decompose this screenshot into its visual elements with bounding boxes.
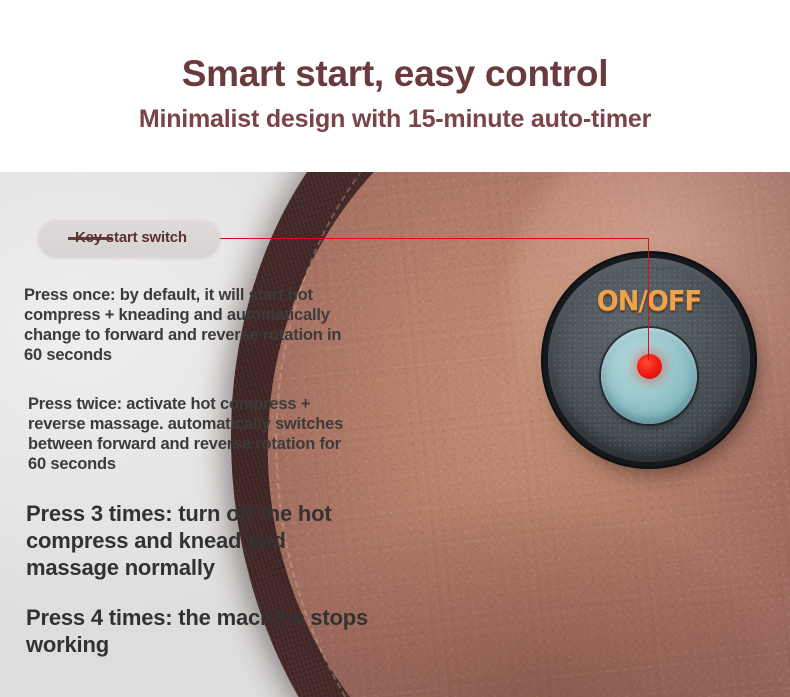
power-button-inner-pad[interactable] — [601, 328, 697, 424]
header-band: Smart start, easy control Minimalist des… — [0, 0, 790, 172]
instruction-press-once: Press once: by default, it will start ho… — [24, 285, 354, 365]
page-title: Smart start, easy control — [0, 52, 790, 96]
instruction-list: Press once: by default, it will start ho… — [0, 172, 420, 697]
callout-line-vertical — [648, 238, 649, 360]
page-subtitle: Minimalist design with 15-minute auto-ti… — [0, 103, 790, 135]
power-button-label: ON/OFF — [556, 284, 742, 317]
product-feature-slide: Smart start, easy control Minimalist des… — [0, 0, 790, 697]
power-led-indicator — [637, 354, 662, 379]
instruction-press-4-times: Press 4 times: the machine stops working — [26, 604, 396, 658]
instruction-press-twice: Press twice: activate hot compress + rev… — [28, 394, 358, 474]
power-button[interactable]: ON/OFF — [548, 258, 750, 462]
instruction-press-3-times: Press 3 times: turn off the hot compress… — [26, 500, 366, 581]
product-photo-stage: ON/OFF Key start switch Press once: by d… — [0, 172, 790, 697]
